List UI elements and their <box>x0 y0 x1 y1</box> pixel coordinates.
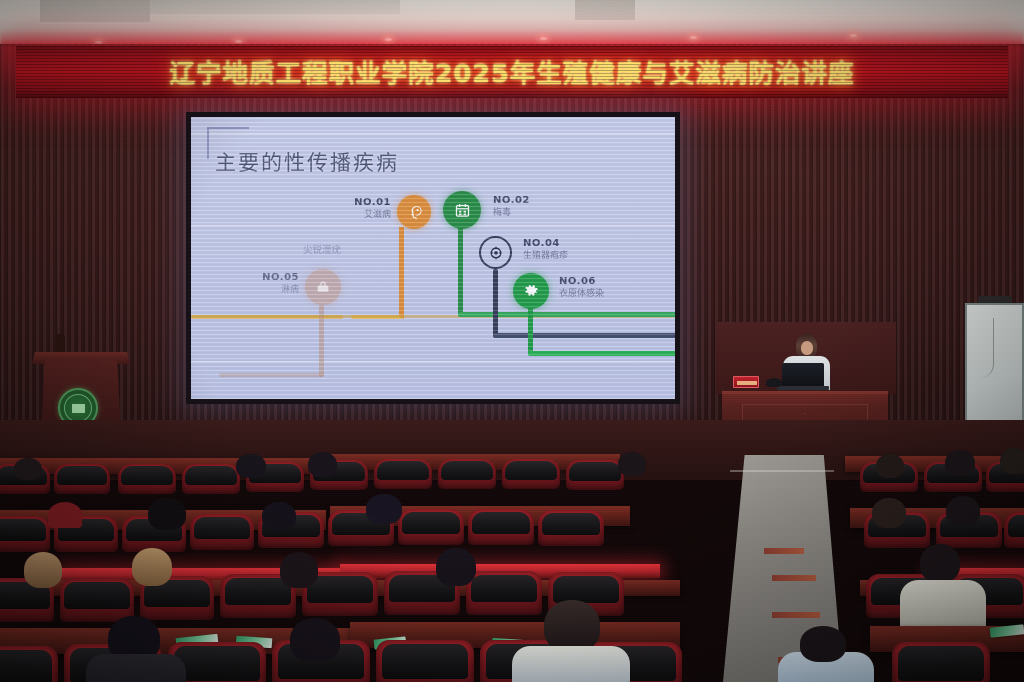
ceiling-panel <box>150 0 400 14</box>
node-02-label: NO.02 梅毒 <box>493 195 530 219</box>
audience-head <box>544 600 600 652</box>
node-01-name: 艾滋病 <box>333 209 391 221</box>
audience-head <box>148 498 186 530</box>
seat-cushion <box>185 466 236 485</box>
audience-head <box>945 450 975 476</box>
seat <box>54 464 110 494</box>
audience-head <box>618 452 646 476</box>
seat <box>182 464 240 494</box>
node-05-name: 淋病 <box>251 284 299 296</box>
seat-cushion <box>402 512 460 534</box>
audience-head-light-hair <box>24 552 62 588</box>
audience-head <box>290 618 340 662</box>
led-banner: 辽宁地质工程职业学院2025年生殖健康与艾滋病防治讲座 <box>16 46 1008 98</box>
audience-area <box>0 440 1024 682</box>
seat <box>538 510 604 546</box>
seat-cushion <box>505 461 556 480</box>
seat-cushion <box>64 582 129 609</box>
seat <box>190 514 254 550</box>
audience-head-cap <box>48 502 82 528</box>
ceiling-lamp <box>385 38 392 41</box>
seat-cushion <box>225 578 292 605</box>
seat <box>60 578 134 622</box>
seat-cushion <box>471 575 538 602</box>
audience-head <box>280 552 318 588</box>
seat-cushion <box>194 517 250 539</box>
seat-cushion <box>441 461 492 480</box>
node-04-number: NO.04 <box>523 238 568 250</box>
ceiling-lamp <box>235 40 242 43</box>
audience-head <box>236 454 266 478</box>
rail-rose-1 <box>219 373 324 377</box>
seat-cushion <box>542 513 600 535</box>
seat <box>466 571 542 615</box>
rail-orange-stem <box>399 227 404 319</box>
seat-cushion <box>377 461 428 480</box>
seat <box>118 464 176 494</box>
node-05-label: NO.05 淋病 <box>251 272 299 296</box>
node-02-number: NO.02 <box>493 195 530 207</box>
cable <box>980 318 994 378</box>
led-banner-text: 辽宁地质工程职业学院2025年生殖健康与艾滋病防治讲座 <box>169 54 854 90</box>
seat <box>398 509 464 545</box>
rail-navy-1 <box>493 333 675 338</box>
audience-head <box>308 452 337 477</box>
target-icon <box>479 236 512 269</box>
lecture-hall-photo: 辽宁地质工程职业学院2025年生殖健康与艾滋病防治讲座 主要的性传播疾病 <box>0 0 1024 682</box>
seat-cushion <box>174 646 260 681</box>
node-01-label: NO.01 艾滋病 <box>333 197 391 221</box>
seat-cushion <box>57 466 106 485</box>
laptop-base <box>777 386 829 390</box>
whiteboard <box>965 303 1024 431</box>
rail-green2-stem <box>528 307 533 355</box>
seat <box>376 640 474 682</box>
podium-microphone <box>56 334 65 354</box>
audience-head <box>946 496 980 526</box>
speaker-nameplate <box>733 376 759 388</box>
audience-head <box>262 502 296 530</box>
ceiling-panel <box>40 0 150 22</box>
presentation-slide: 主要的性传播疾病 <box>191 117 675 399</box>
seat <box>374 459 432 489</box>
ceiling-panel <box>575 0 635 20</box>
node-02-name: 梅毒 <box>493 207 530 219</box>
node-06-label: NO.06 衣原体感染 <box>559 276 604 300</box>
node-04-name: 生殖器疱疹 <box>523 250 568 262</box>
seat <box>566 460 624 490</box>
rail-green-1 <box>458 312 675 317</box>
seat-cushion <box>569 462 620 481</box>
node-03-label: 尖锐湿疣 <box>303 245 341 257</box>
std-diagram: NO.01 艾滋病 <box>191 117 675 399</box>
node-06-name: 衣原体感染 <box>559 288 604 300</box>
ceiling-lamp <box>850 34 857 37</box>
audience-head <box>876 454 904 478</box>
seat <box>438 459 496 489</box>
ceiling-lamp <box>690 36 697 39</box>
audience-head <box>14 458 42 480</box>
desk-microphone <box>766 378 782 387</box>
seat <box>0 516 50 552</box>
seat <box>502 459 560 489</box>
seat-cushion <box>0 650 52 682</box>
node-04-label: NO.04 生殖器疱疹 <box>523 238 568 262</box>
speaker-face <box>801 341 813 355</box>
seat <box>892 642 990 682</box>
audience-shoulders <box>900 580 986 630</box>
seat <box>1004 512 1024 548</box>
audience-head <box>872 498 906 528</box>
node-01-number: NO.01 <box>333 197 391 209</box>
seat-cushion <box>0 519 46 541</box>
ceiling-lamp <box>540 37 547 40</box>
rail-green-stem <box>458 225 463 315</box>
rail-green2-1 <box>528 351 675 356</box>
audience-head <box>366 494 402 524</box>
gear-icon <box>513 273 549 309</box>
seat-cushion <box>898 646 984 681</box>
audience-head-light-hair <box>132 548 172 586</box>
node-05-number: NO.05 <box>251 272 299 284</box>
seat-cushion <box>382 644 468 679</box>
rail-navy-stem <box>493 269 498 337</box>
seat <box>0 646 58 682</box>
rail-rose-stem <box>319 305 324 377</box>
seat-cushion <box>472 512 530 534</box>
node-03-name: 尖锐湿疣 <box>303 245 341 257</box>
projection-screen: 主要的性传播疾病 <box>186 112 680 404</box>
laptop <box>782 363 824 387</box>
audience-shoulders <box>86 654 186 682</box>
seat <box>468 509 534 545</box>
audience-head <box>436 548 476 586</box>
audience-head <box>920 544 960 582</box>
node-06-number: NO.06 <box>559 276 604 288</box>
seat-cushion <box>1008 515 1024 537</box>
seat-cushion <box>553 576 620 603</box>
seat-cushion <box>121 466 172 485</box>
calendar-icon <box>443 191 481 229</box>
audience-head <box>800 626 846 662</box>
audience-head <box>1000 448 1024 474</box>
audience-shoulders <box>512 646 630 682</box>
lock-icon <box>305 269 341 305</box>
head-profile-icon <box>397 195 431 229</box>
